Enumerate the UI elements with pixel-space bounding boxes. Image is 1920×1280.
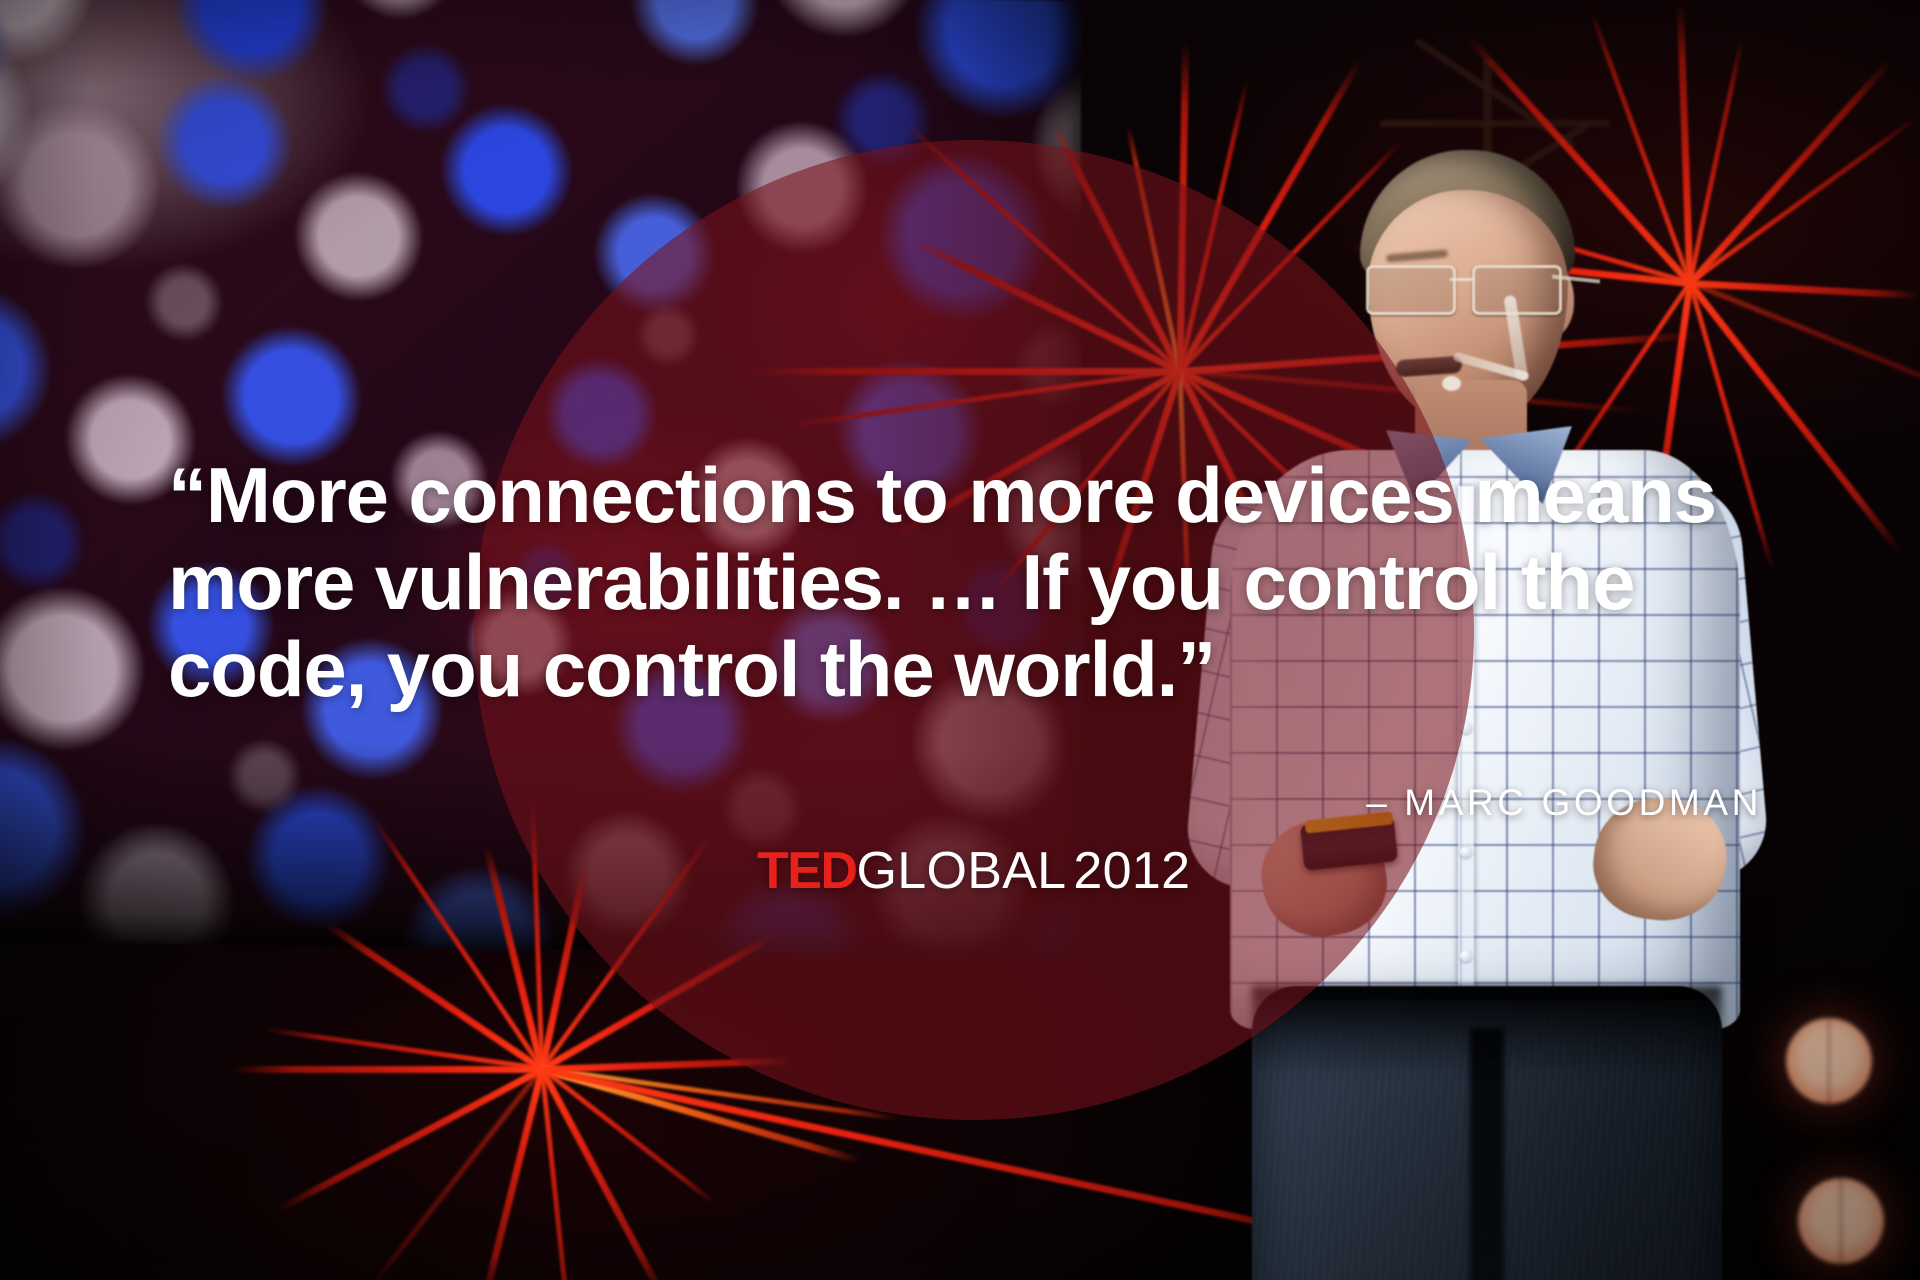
headset-mic-capsule — [1442, 376, 1461, 391]
eyeglass-lens-left — [1366, 265, 1456, 315]
event-year: 2012 — [1073, 842, 1190, 900]
quote-text: “More connections to more devices means … — [168, 452, 1818, 713]
eyeglass-bridge — [1450, 278, 1474, 281]
global-wordmark: GLOBAL — [857, 842, 1067, 900]
stage-lamp-upper — [1786, 1018, 1872, 1104]
quote-line-1: “More connections to more devices means — [168, 452, 1818, 539]
jeans-hip-shadow — [1252, 986, 1722, 1076]
stage-truss-horizontal — [1380, 120, 1610, 127]
stage-lamp-lower — [1798, 1178, 1884, 1264]
shirt-button — [1460, 950, 1472, 962]
quote-card-canvas: “More connections to more devices means … — [0, 0, 1920, 1280]
tedglobal-logo: TEDGLOBAL2012 — [757, 845, 1190, 897]
quote-attribution: – MARC GOODMAN — [0, 782, 1762, 824]
ted-wordmark: TED — [757, 842, 857, 900]
shirt-button — [1460, 846, 1472, 858]
quote-line-3: code, you control the world.” — [168, 626, 1818, 713]
quote-line-2: more vulnerabilities. … If you control t… — [168, 539, 1818, 626]
eyeglasses-icon — [1362, 265, 1582, 313]
